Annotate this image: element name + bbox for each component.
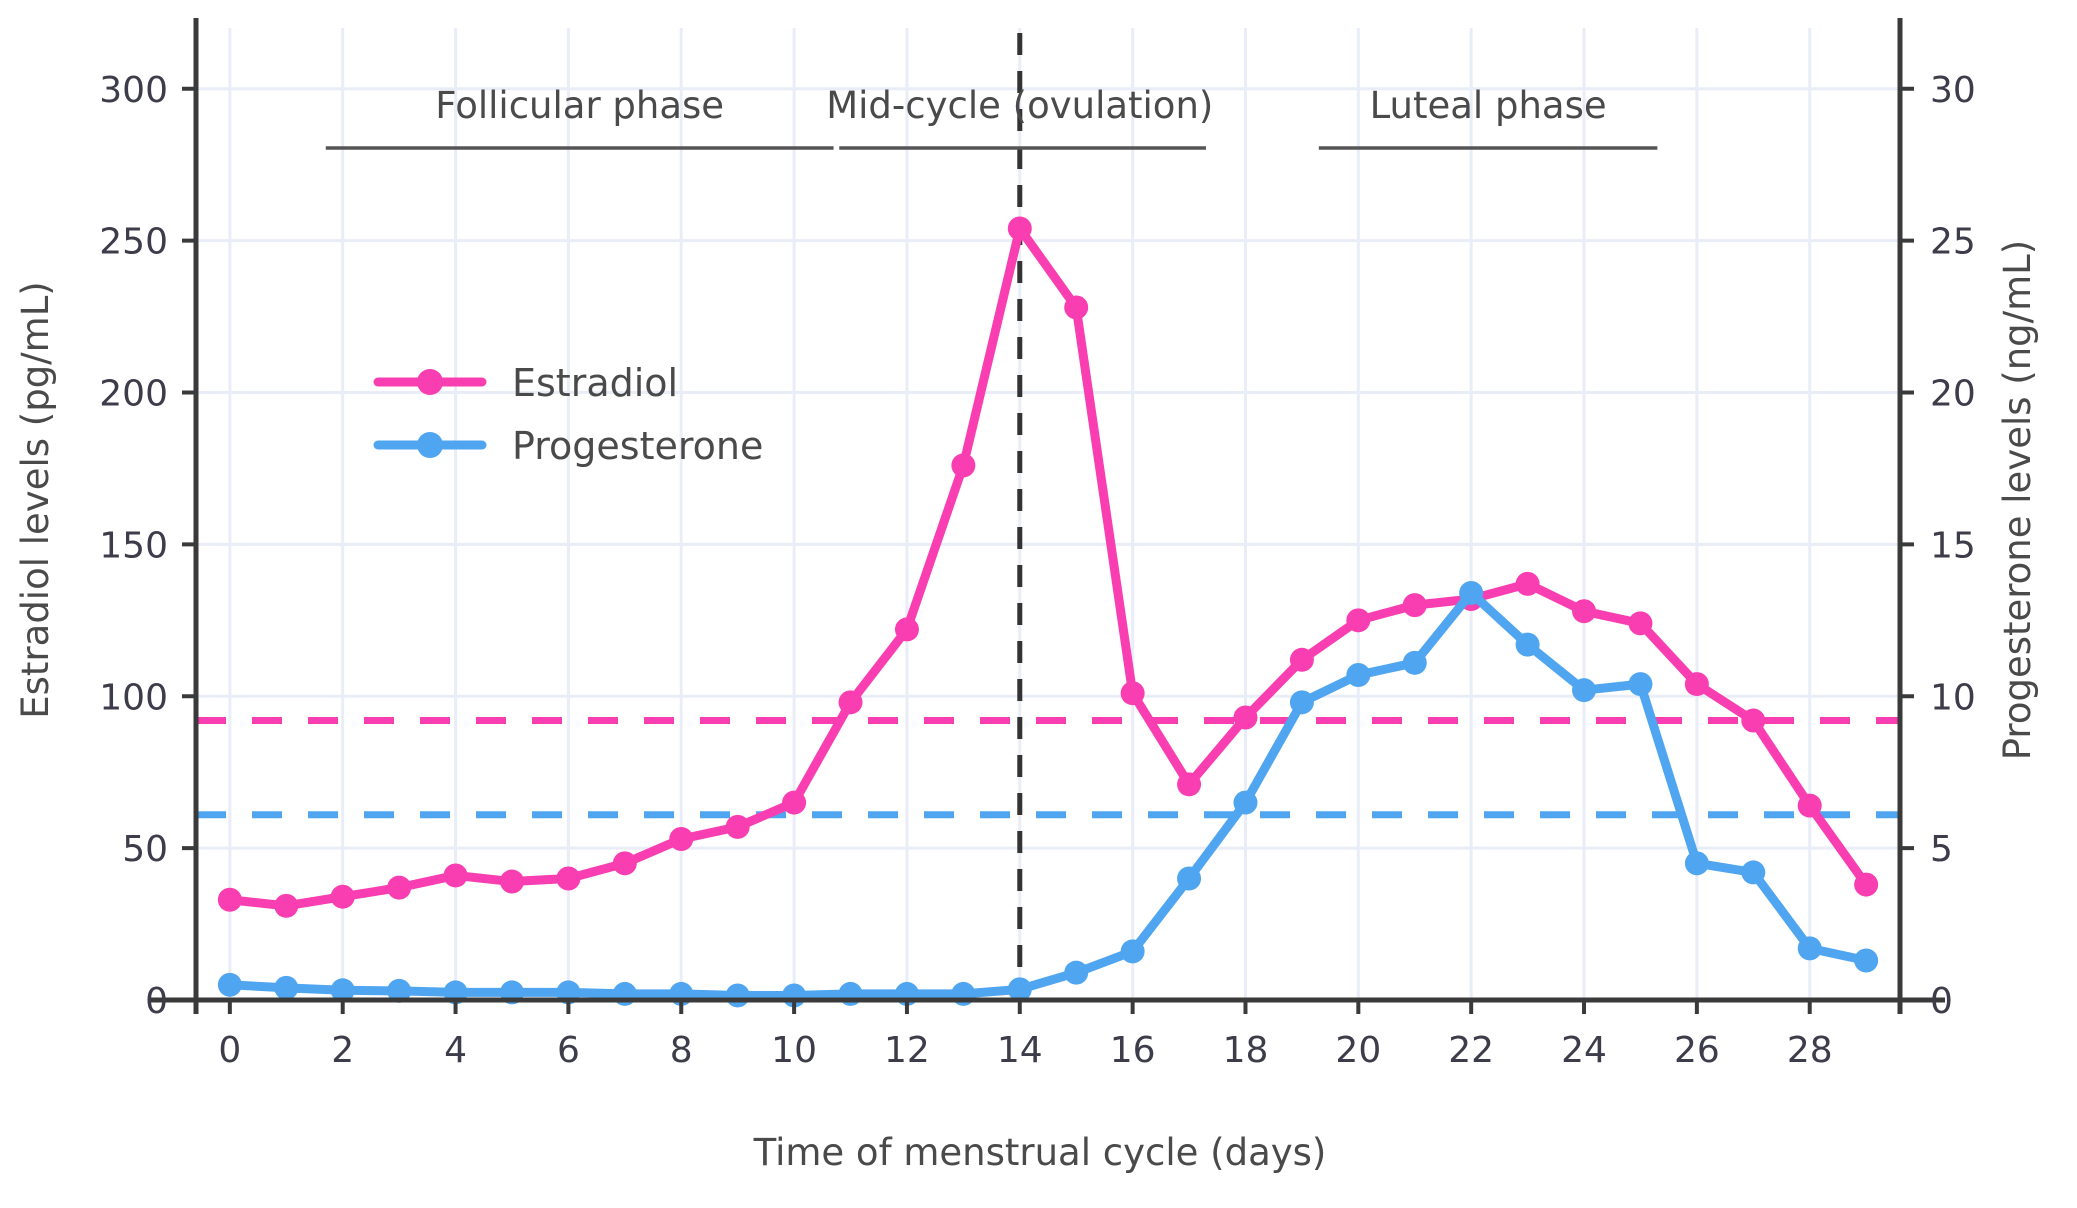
x-tick-label: 14 <box>997 1030 1043 1071</box>
x-tick-label: 8 <box>670 1030 693 1071</box>
y2-tick-label: 0 <box>1930 981 1953 1022</box>
y-axis-left-title: Estradiol levels (pg/mL) <box>14 281 57 718</box>
y-tick-label: 250 <box>99 222 168 263</box>
x-tick-label: 2 <box>331 1030 354 1071</box>
y2-tick-label: 20 <box>1930 374 1976 415</box>
y2-tick-label: 15 <box>1930 525 1976 566</box>
chart-figure: 0246810121416182022242628 05010015020025… <box>0 0 2077 1208</box>
data-point[interactable] <box>1290 648 1314 672</box>
data-point[interactable] <box>1628 611 1652 635</box>
legend-swatch-marker <box>417 432 443 458</box>
data-point[interactable] <box>1008 216 1032 240</box>
y2-tick-label: 30 <box>1930 70 1976 111</box>
data-point[interactable] <box>1177 867 1201 891</box>
data-point[interactable] <box>669 827 693 851</box>
data-point[interactable] <box>1572 678 1596 702</box>
y-tick-label: 100 <box>99 677 168 718</box>
y-axis-right-title: Progesterone levels (ng/mL) <box>1996 240 2039 760</box>
data-point[interactable] <box>1854 949 1878 973</box>
data-point[interactable] <box>1516 633 1540 657</box>
y2-tick-label: 25 <box>1930 222 1976 263</box>
x-tick-label: 4 <box>444 1030 467 1071</box>
data-point[interactable] <box>218 888 242 912</box>
data-point[interactable] <box>726 983 750 1007</box>
x-tick-label: 26 <box>1674 1030 1720 1071</box>
x-tick-label: 18 <box>1223 1030 1269 1071</box>
data-point[interactable] <box>1798 936 1822 960</box>
data-point[interactable] <box>1685 851 1709 875</box>
y-tick-label: 0 <box>145 981 168 1022</box>
data-point[interactable] <box>1741 709 1765 733</box>
data-point[interactable] <box>1741 860 1765 884</box>
data-point[interactable] <box>1064 295 1088 319</box>
chart-background <box>0 0 2077 1208</box>
phase-label: Follicular phase <box>435 84 724 127</box>
data-point[interactable] <box>500 870 524 894</box>
y-tick-label: 50 <box>122 829 168 870</box>
y-tick-label: 150 <box>99 525 168 566</box>
y2-tick-label: 5 <box>1930 829 1953 870</box>
x-axis-title: Time of menstrual cycle (days) <box>753 1131 1327 1174</box>
data-point[interactable] <box>1346 608 1370 632</box>
y-tick-label: 300 <box>99 70 168 111</box>
data-point[interactable] <box>1628 672 1652 696</box>
data-point[interactable] <box>1516 572 1540 596</box>
x-tick-label: 0 <box>218 1030 241 1071</box>
legend-label: Progesterone <box>512 424 763 468</box>
data-point[interactable] <box>1290 690 1314 714</box>
data-point[interactable] <box>1798 794 1822 818</box>
data-point[interactable] <box>1233 706 1257 730</box>
data-point[interactable] <box>218 973 242 997</box>
data-point[interactable] <box>1685 672 1709 696</box>
data-point[interactable] <box>274 976 298 1000</box>
x-tick-label: 28 <box>1787 1030 1833 1071</box>
hormone-levels-line-chart: 0246810121416182022242628 05010015020025… <box>0 0 2077 1208</box>
data-point[interactable] <box>1403 651 1427 675</box>
data-point[interactable] <box>1854 873 1878 897</box>
legend-swatch-marker <box>417 369 443 395</box>
data-point[interactable] <box>895 617 919 641</box>
data-point[interactable] <box>331 885 355 909</box>
data-point[interactable] <box>1403 593 1427 617</box>
data-point[interactable] <box>556 867 580 891</box>
data-point[interactable] <box>951 453 975 477</box>
data-point[interactable] <box>1121 939 1145 963</box>
legend-label: Estradiol <box>512 361 678 405</box>
data-point[interactable] <box>1177 772 1201 796</box>
x-tick-label: 20 <box>1335 1030 1381 1071</box>
data-point[interactable] <box>613 851 637 875</box>
x-tick-label: 10 <box>771 1030 817 1071</box>
data-point[interactable] <box>1346 663 1370 687</box>
y-tick-label: 200 <box>99 374 168 415</box>
data-point[interactable] <box>726 815 750 839</box>
data-point[interactable] <box>1572 599 1596 623</box>
data-point[interactable] <box>1064 961 1088 985</box>
data-point[interactable] <box>274 894 298 918</box>
x-tick-label: 6 <box>557 1030 580 1071</box>
data-point[interactable] <box>782 791 806 815</box>
x-tick-label: 12 <box>884 1030 930 1071</box>
phase-label: Luteal phase <box>1370 84 1607 127</box>
x-tick-label: 24 <box>1561 1030 1607 1071</box>
data-point[interactable] <box>1121 681 1145 705</box>
y2-tick-label: 10 <box>1930 677 1976 718</box>
data-point[interactable] <box>1233 791 1257 815</box>
phase-label: Mid-cycle (ovulation) <box>826 84 1213 127</box>
data-point[interactable] <box>839 690 863 714</box>
data-point[interactable] <box>1459 581 1483 605</box>
data-point[interactable] <box>387 876 411 900</box>
data-point[interactable] <box>444 863 468 887</box>
x-tick-label: 16 <box>1110 1030 1156 1071</box>
x-tick-label: 22 <box>1448 1030 1494 1071</box>
